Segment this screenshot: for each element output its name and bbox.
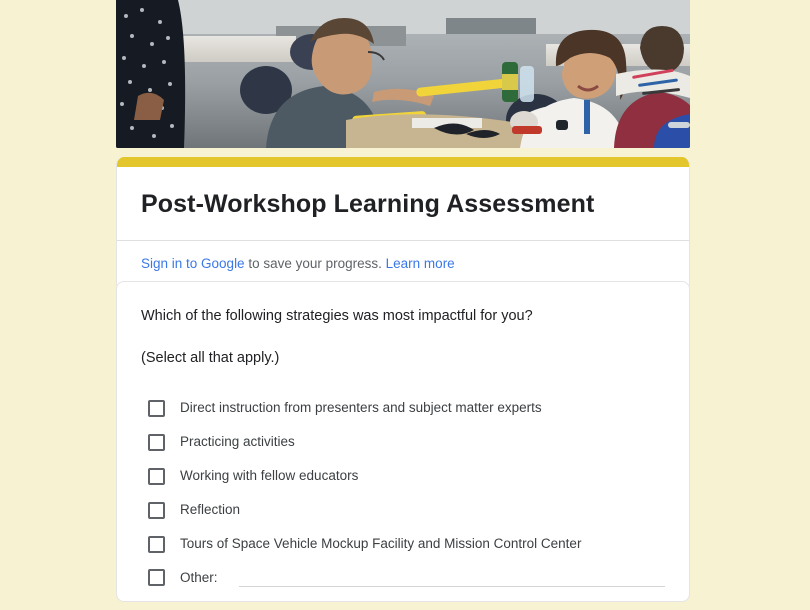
checkbox-options-group: Direct instruction from presenters and s… [141, 392, 665, 594]
checkbox-option-label: Direct instruction from presenters and s… [180, 399, 542, 418]
checkbox-option-other[interactable]: Other: [141, 562, 665, 594]
checkbox-option-working-with-fellow-educators[interactable]: Working with fellow educators [141, 460, 665, 494]
other-text-input[interactable] [239, 568, 665, 587]
checkbox-option-reflection[interactable]: Reflection [141, 494, 665, 528]
form-header-card: Post-Workshop Learning Assessment Sign i… [116, 157, 690, 291]
checkbox-option-practicing-activities[interactable]: Practicing activities [141, 426, 665, 460]
form-title-section: Post-Workshop Learning Assessment [117, 167, 689, 241]
sign-in-link[interactable]: Sign in to Google [141, 256, 245, 271]
checkbox-option-label: Working with fellow educators [180, 467, 358, 486]
signin-notice-text: to save your progress. [245, 256, 386, 271]
checkbox-icon[interactable] [148, 502, 165, 519]
form-banner-image [116, 0, 690, 148]
checkbox-icon[interactable] [148, 434, 165, 451]
checkbox-icon[interactable] [148, 400, 165, 417]
checkbox-option-tours[interactable]: Tours of Space Vehicle Mockup Facility a… [141, 528, 665, 562]
question-instruction: (Select all that apply.) [141, 348, 665, 370]
checkbox-icon[interactable] [148, 569, 165, 586]
checkbox-option-label: Practicing activities [180, 433, 295, 452]
form-page: Post-Workshop Learning Assessment Sign i… [0, 0, 810, 610]
question-prompt: Which of the following strategies was mo… [141, 306, 665, 328]
checkbox-option-label: Reflection [180, 501, 240, 520]
learn-more-link[interactable]: Learn more [386, 256, 455, 271]
checkbox-option-direct-instruction[interactable]: Direct instruction from presenters and s… [141, 392, 665, 426]
form-accent-bar [117, 157, 689, 167]
question-card: Which of the following strategies was mo… [116, 281, 690, 602]
checkbox-option-label: Tours of Space Vehicle Mockup Facility a… [180, 535, 581, 554]
other-option-label: Other: [180, 570, 218, 585]
checkbox-icon[interactable] [148, 536, 165, 553]
checkbox-icon[interactable] [148, 468, 165, 485]
page-title: Post-Workshop Learning Assessment [141, 189, 665, 220]
